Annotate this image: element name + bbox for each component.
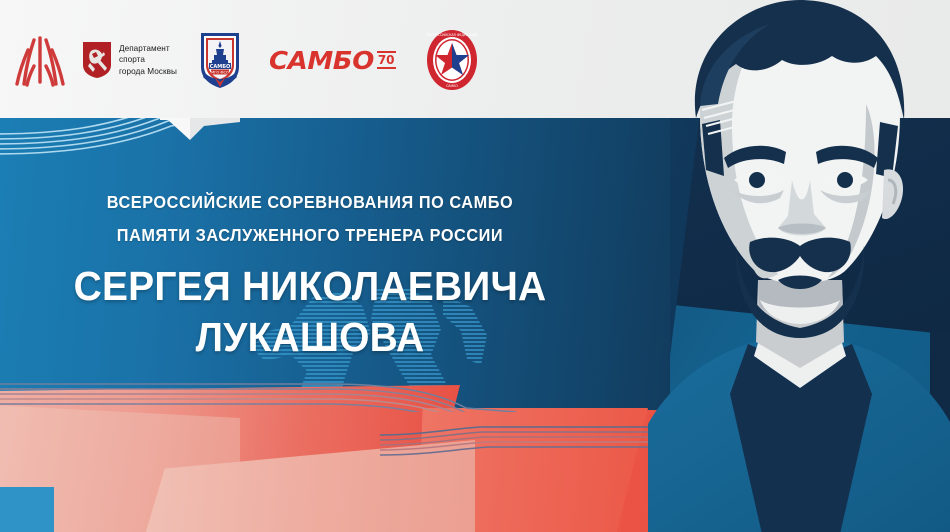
svg-text:САМБО: САМБО (446, 84, 458, 88)
svg-text:САМБО: САМБО (210, 64, 231, 70)
sambo-shield-emblem-icon: САМБО МГО ФСО (195, 29, 245, 91)
headline-honoree-name: СЕРГЕЯ НИКОЛАЕВИЧА ЛУКАШОВА (16, 261, 605, 364)
sambo70-number: 70 (377, 51, 396, 69)
logo-row: Департамент спорта города Москвы (14, 24, 478, 96)
decorative-stripes-middle-icon (0, 378, 516, 412)
svg-text:МГО ФСО: МГО ФСО (211, 71, 229, 75)
headline-line-2: ПАМЯТИ ЗАСЛУЖЕННОГО ТРЕНЕРА РОССИИ (22, 219, 599, 252)
blue-corner-block (0, 487, 54, 532)
poster-banner: Департамент спорта города Москвы (0, 0, 950, 532)
moscow-coat-of-arms-icon (82, 41, 112, 79)
moscow-sport-department-logo: Департамент спорта города Москвы (82, 41, 177, 79)
svg-text:ВСЕРОССИЙСКАЯ ФЕДЕРАЦИЯ: ВСЕРОССИЙСКАЯ ФЕДЕРАЦИЯ (426, 32, 476, 37)
headline-line-1: ВСЕРОССИЙСКИЕ СОРЕВНОВАНИЯ ПО САМБО (22, 186, 599, 219)
sambo-star-round-emblem-icon: ВСЕРОССИЙСКАЯ ФЕДЕРАЦИЯ САМБО (426, 29, 478, 91)
headline-block: ВСЕРОССИЙСКИЕ СОРЕВНОВАНИЯ ПО САМБО ПАМЯ… (0, 186, 620, 363)
sambo70-wordmark-icon: САМБО (269, 46, 374, 75)
moscow-label-line2: спорта (119, 54, 177, 66)
lukashov-portrait (640, 0, 950, 532)
sambo-70-logo: САМБО 70 (271, 46, 396, 75)
moscow-label-line1: Департамент (119, 43, 177, 55)
moscow-label-line3: города Москвы (119, 66, 177, 78)
russian-sport-torch-icon (14, 32, 66, 88)
moscow-sport-department-label: Департамент спорта города Москвы (119, 43, 177, 78)
